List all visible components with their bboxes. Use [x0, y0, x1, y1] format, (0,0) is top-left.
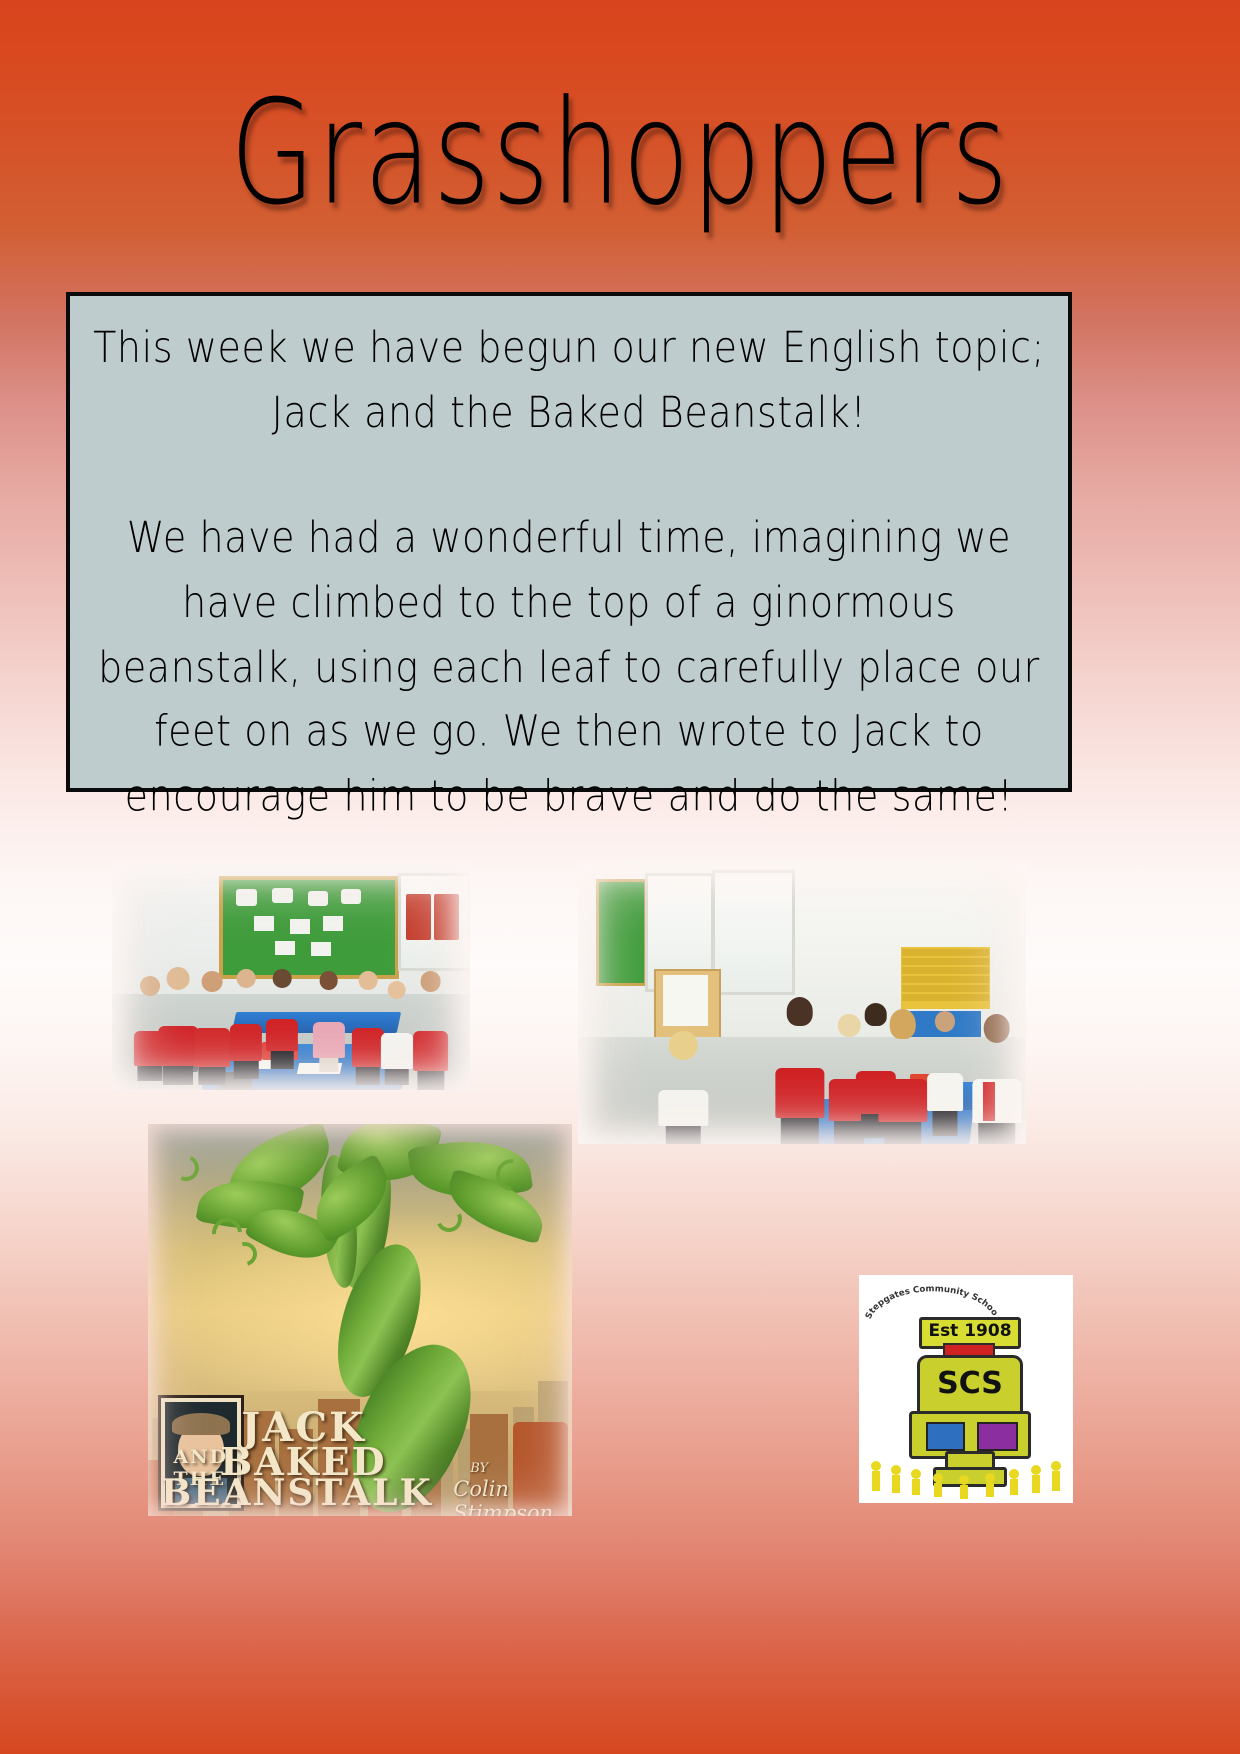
- book-cover-image: JACK AND THE BAKED BEANSTALK BY Colin St…: [148, 1124, 572, 1516]
- established-text: Est 1908: [922, 1321, 1018, 1341]
- school-logo: Stepgates Community School Est 1908 SCS: [859, 1275, 1073, 1503]
- page-title: Grasshoppers: [43, 78, 1196, 229]
- book-byline-prefix: BY: [470, 1461, 488, 1476]
- paragraph-intro: This week we have begun our new English …: [90, 316, 1048, 445]
- announcement-textbox: This week we have begun our new English …: [66, 292, 1072, 792]
- svg-text:Stepgates Community School: Stepgates Community School: [859, 1285, 999, 1321]
- book-author: Colin Stimpson: [453, 1477, 572, 1516]
- book-title-beanstalk: BEANSTALK: [161, 1477, 433, 1510]
- paragraph-body: We have had a wonderful time, imagining …: [90, 506, 1048, 829]
- classroom-photo-2: [578, 862, 1026, 1144]
- poster-page: Grasshoppers This week we have begun our…: [0, 0, 1240, 1754]
- school-name-text: Stepgates Community School: [859, 1285, 999, 1321]
- school-initials: SCS: [920, 1366, 1020, 1401]
- classroom-photo-1: [112, 862, 470, 1090]
